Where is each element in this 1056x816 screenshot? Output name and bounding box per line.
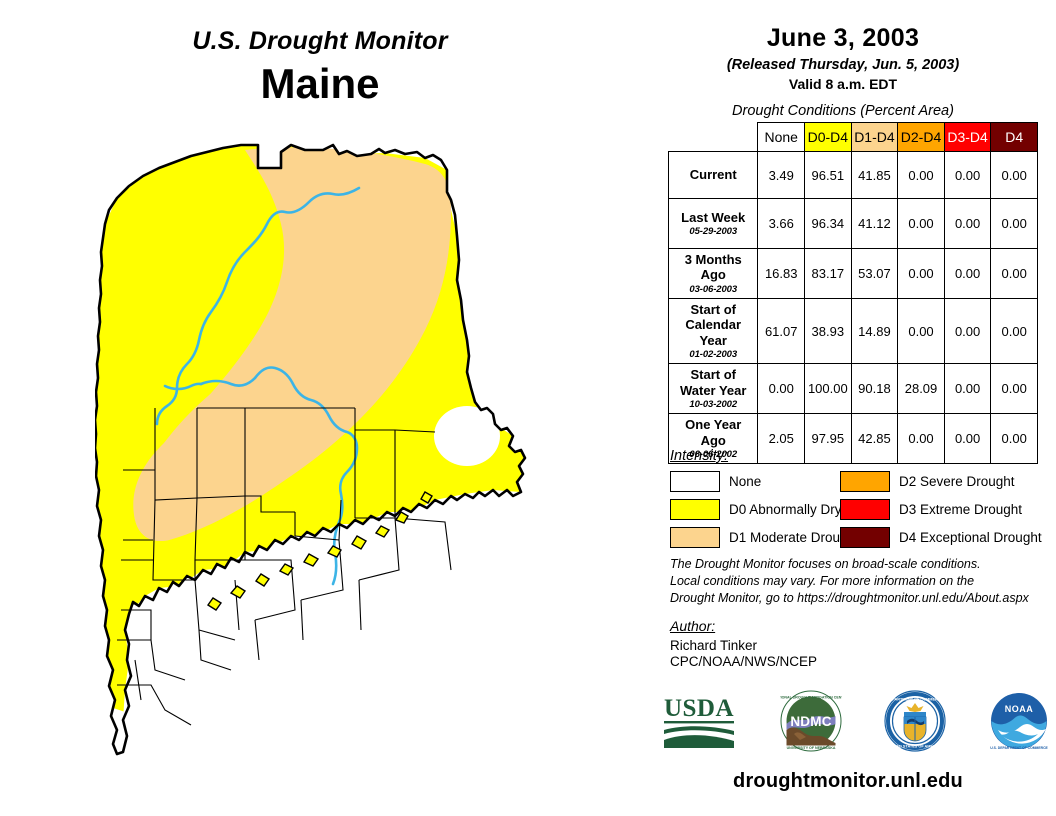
cell-none: 0.00 bbox=[758, 364, 805, 414]
cell-d2-d4: 0.00 bbox=[898, 152, 945, 199]
cell-d0-d4: 100.00 bbox=[805, 364, 852, 414]
state-title: Maine bbox=[0, 60, 640, 108]
page-title: U.S. Drought Monitor bbox=[0, 28, 640, 56]
cell-d0-d4: 96.51 bbox=[805, 152, 852, 199]
cell-d1-d4: 41.85 bbox=[851, 152, 898, 199]
cell-none: 3.66 bbox=[758, 199, 805, 249]
legend-item: D2 Severe Drought bbox=[840, 471, 1048, 492]
svg-text:USDA: USDA bbox=[664, 695, 734, 722]
legend-label: None bbox=[729, 474, 761, 489]
row-label: 3 Months Ago03-06-2003 bbox=[669, 249, 758, 299]
cell-d1-d4: 14.89 bbox=[851, 299, 898, 364]
release-date: (Released Thursday, Jun. 5, 2003) bbox=[648, 57, 1038, 73]
commerce-seal: DEPARTMENT OF COMMERCE UNITED STATES OF … bbox=[884, 690, 946, 757]
table-header: None D0-D4 D1-D4 D2-D4 D3-D4 D4 bbox=[669, 123, 1038, 152]
legend-label: D0 Abnormally Dry bbox=[729, 502, 842, 517]
drought-conditions-table: None D0-D4 D1-D4 D2-D4 D3-D4 D4 Current3… bbox=[668, 122, 1038, 464]
cell-d4: 0.00 bbox=[991, 199, 1038, 249]
row-date: 03-06-2003 bbox=[671, 284, 755, 295]
column-header-d1-d4: D1-D4 bbox=[851, 123, 898, 152]
legend-label: D4 Exceptional Drought bbox=[899, 530, 1042, 545]
cell-d1-d4: 41.12 bbox=[851, 199, 898, 249]
cell-d1-d4: 90.18 bbox=[851, 364, 898, 414]
svg-text:UNIVERSITY OF NEBRASKA: UNIVERSITY OF NEBRASKA bbox=[787, 746, 836, 750]
cell-d0-d4: 96.34 bbox=[805, 199, 852, 249]
legend-label: D3 Extreme Drought bbox=[899, 502, 1022, 517]
site-url: droughtmonitor.unl.edu bbox=[648, 770, 1048, 793]
svg-text:NOAA: NOAA bbox=[1005, 704, 1034, 714]
table-caption: Drought Conditions (Percent Area) bbox=[648, 103, 1038, 119]
logo-row: USDA NDMC NATIONAL DROUGHT MITIGATION CE… bbox=[660, 690, 1050, 757]
svg-text:DEPARTMENT OF COMMERCE: DEPARTMENT OF COMMERCE bbox=[887, 698, 944, 702]
legend-item: D1 Moderate Drought bbox=[670, 527, 840, 548]
intensity-legend: Intensity: NoneD2 Severe DroughtD0 Abnor… bbox=[670, 448, 1048, 548]
usda-logo: USDA bbox=[660, 690, 738, 757]
svg-text:NATIONAL DROUGHT MITIGATION CE: NATIONAL DROUGHT MITIGATION CENTER bbox=[780, 696, 842, 700]
cell-none: 61.07 bbox=[758, 299, 805, 364]
legend-item: None bbox=[670, 471, 840, 492]
row-label: Start ofWater Year10-03-2002 bbox=[669, 364, 758, 414]
cell-d3-d4: 0.00 bbox=[944, 199, 991, 249]
cell-d4: 0.00 bbox=[991, 152, 1038, 199]
legend-item: D3 Extreme Drought bbox=[840, 499, 1048, 520]
svg-text:U.S. DEPARTMENT OF COMMERCE: U.S. DEPARTMENT OF COMMERCE bbox=[990, 746, 1048, 750]
valid-time: Valid 8 a.m. EDT bbox=[648, 76, 1038, 92]
cell-d1-d4: 53.07 bbox=[851, 249, 898, 299]
date-block: June 3, 2003 (Released Thursday, Jun. 5,… bbox=[648, 24, 1038, 92]
table-row: 3 Months Ago03-06-200316.8383.1753.070.0… bbox=[669, 249, 1038, 299]
cell-none: 16.83 bbox=[758, 249, 805, 299]
cell-d4: 0.00 bbox=[991, 299, 1038, 364]
row-date: 10-03-2002 bbox=[671, 399, 755, 410]
cell-d3-d4: 0.00 bbox=[944, 299, 991, 364]
column-header-d4: D4 bbox=[991, 123, 1038, 152]
cell-d3-d4: 0.00 bbox=[944, 152, 991, 199]
legend-swatch bbox=[840, 471, 890, 492]
disclaimer: The Drought Monitor focuses on broad-sca… bbox=[670, 556, 1050, 607]
cell-d2-d4: 0.00 bbox=[898, 249, 945, 299]
author-org: CPC/NOAA/NWS/NCEP bbox=[670, 654, 1050, 669]
cell-d4: 0.00 bbox=[991, 249, 1038, 299]
intensity-title: Intensity: bbox=[670, 448, 1048, 464]
cell-d4: 0.00 bbox=[991, 364, 1038, 414]
legend-label: D2 Severe Drought bbox=[899, 474, 1015, 489]
legend-swatch bbox=[670, 499, 720, 520]
table-header-row: None D0-D4 D1-D4 D2-D4 D3-D4 D4 bbox=[669, 123, 1038, 152]
legend-swatch bbox=[670, 527, 720, 548]
table-row: Start ofCalendar Year01-02-200361.0738.9… bbox=[669, 299, 1038, 364]
legend-grid: NoneD2 Severe DroughtD0 Abnormally DryD3… bbox=[670, 471, 1048, 548]
legend-swatch bbox=[840, 499, 890, 520]
table-row: Current3.4996.5141.850.000.000.00 bbox=[669, 152, 1038, 199]
row-label: Current bbox=[669, 152, 758, 199]
drought-map bbox=[95, 140, 595, 780]
row-label: Start ofCalendar Year01-02-2003 bbox=[669, 299, 758, 364]
table-body: Current3.4996.5141.850.000.000.00Last We… bbox=[669, 152, 1038, 464]
row-date: 05-29-2003 bbox=[671, 226, 755, 237]
legend-swatch bbox=[670, 471, 720, 492]
cell-d2-d4: 0.00 bbox=[898, 199, 945, 249]
disclaimer-line-2: Local conditions may vary. For more info… bbox=[670, 573, 1050, 590]
cell-none: 3.49 bbox=[758, 152, 805, 199]
svg-text:NDMC: NDMC bbox=[790, 714, 831, 729]
row-label: Last Week05-29-2003 bbox=[669, 199, 758, 249]
table-row: Last Week05-29-20033.6696.3441.120.000.0… bbox=[669, 199, 1038, 249]
column-header-d0-d4: D0-D4 bbox=[805, 123, 852, 152]
ndmc-logo: NDMC NATIONAL DROUGHT MITIGATION CENTER … bbox=[780, 690, 842, 757]
cell-d3-d4: 0.00 bbox=[944, 249, 991, 299]
report-date: June 3, 2003 bbox=[648, 24, 1038, 53]
cell-d2-d4: 28.09 bbox=[898, 364, 945, 414]
title-block: U.S. Drought Monitor Maine bbox=[0, 28, 640, 108]
author-title: Author: bbox=[670, 618, 1050, 634]
noaa-logo: NOAA U.S. DEPARTMENT OF COMMERCE bbox=[988, 690, 1050, 757]
svg-text:UNITED STATES OF AMERICA: UNITED STATES OF AMERICA bbox=[888, 745, 943, 749]
cell-d3-d4: 0.00 bbox=[944, 364, 991, 414]
legend-item: D4 Exceptional Drought bbox=[840, 527, 1048, 548]
column-header-d3-d4: D3-D4 bbox=[944, 123, 991, 152]
column-header-none: None bbox=[758, 123, 805, 152]
author-block: Author: Richard Tinker CPC/NOAA/NWS/NCEP bbox=[670, 618, 1050, 669]
table-row: Start ofWater Year10-03-20020.00100.0090… bbox=[669, 364, 1038, 414]
legend-swatch bbox=[840, 527, 890, 548]
cell-d0-d4: 38.93 bbox=[805, 299, 852, 364]
row-date: 01-02-2003 bbox=[671, 349, 755, 360]
disclaimer-line-1: The Drought Monitor focuses on broad-sca… bbox=[670, 556, 1050, 573]
column-header-d2-d4: D2-D4 bbox=[898, 123, 945, 152]
cell-d0-d4: 83.17 bbox=[805, 249, 852, 299]
disclaimer-line-3: Drought Monitor, go to https://droughtmo… bbox=[670, 590, 1050, 607]
author-name: Richard Tinker bbox=[670, 638, 1050, 653]
legend-item: D0 Abnormally Dry bbox=[670, 499, 840, 520]
table-corner-cell bbox=[669, 123, 758, 152]
cell-d2-d4: 0.00 bbox=[898, 299, 945, 364]
